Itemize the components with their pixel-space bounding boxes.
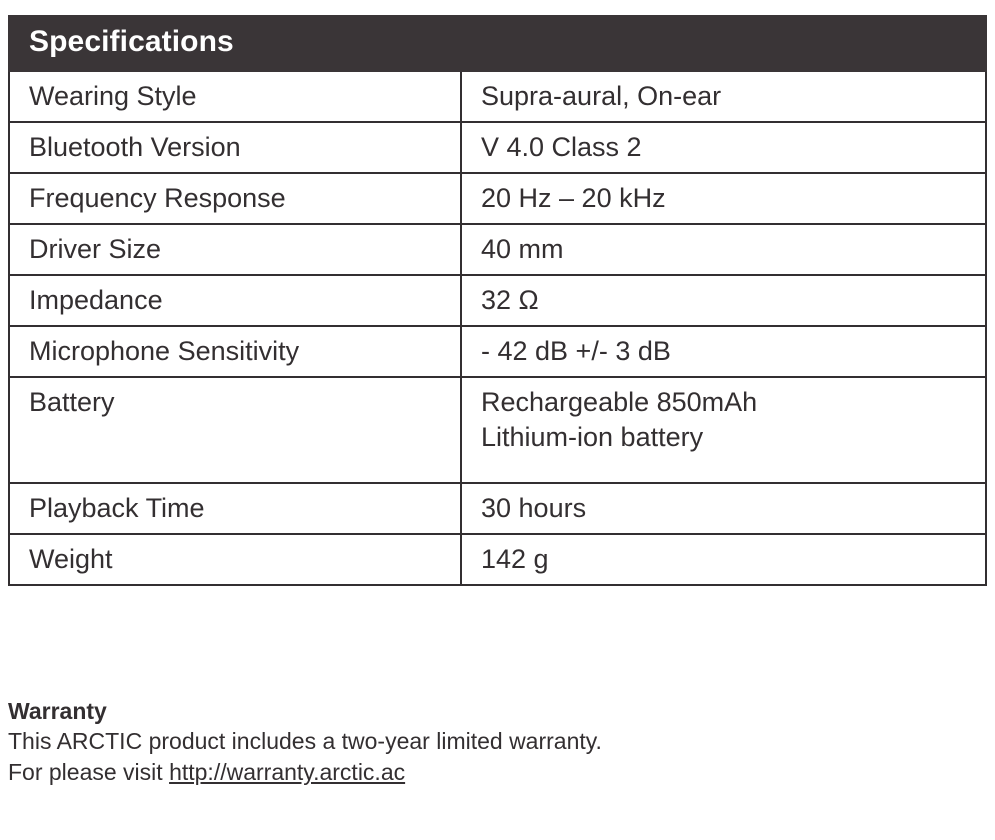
spec-label: Playback Time <box>10 484 460 533</box>
spec-value-cell: Supra-aural, On-ear <box>461 71 986 122</box>
table-row: Impedance32 Ω <box>9 275 986 326</box>
table-row: Weight142 g <box>9 534 986 585</box>
spec-label: Microphone Sensitivity <box>10 327 460 376</box>
specifications-table: Specifications Wearing StyleSupra-aural,… <box>8 15 987 586</box>
spec-value-cell: 142 g <box>461 534 986 585</box>
spec-value: 20 Hz – 20 kHz <box>462 174 985 223</box>
spec-label-cell: Battery <box>9 377 461 483</box>
table-header: Specifications <box>9 16 986 71</box>
table-row: Microphone Sensitivity- 42 dB +/- 3 dB <box>9 326 986 377</box>
spec-value: 30 hours <box>462 484 985 533</box>
spec-value: 40 mm <box>462 225 985 274</box>
spec-label: Impedance <box>10 276 460 325</box>
spec-value-cell: Rechargeable 850mAh Lithium-ion battery <box>461 377 986 483</box>
spec-value-cell: V 4.0 Class 2 <box>461 122 986 173</box>
table-row: Driver Size40 mm <box>9 224 986 275</box>
spec-label-cell: Driver Size <box>9 224 461 275</box>
page-title: Specifications <box>29 25 234 58</box>
spec-label-cell: Weight <box>9 534 461 585</box>
table-row: Frequency Response20 Hz – 20 kHz <box>9 173 986 224</box>
spec-label: Battery <box>10 378 460 482</box>
spec-value-cell: 32 Ω <box>461 275 986 326</box>
spec-label-cell: Wearing Style <box>9 71 461 122</box>
warranty-heading: Warranty <box>8 697 978 726</box>
spec-value-cell: - 42 dB +/- 3 dB <box>461 326 986 377</box>
table-header-row: Specifications <box>9 16 986 71</box>
spec-value: V 4.0 Class 2 <box>462 123 985 172</box>
spec-label-cell: Microphone Sensitivity <box>9 326 461 377</box>
spec-label: Bluetooth Version <box>10 123 460 172</box>
spec-value: 32 Ω <box>462 276 985 325</box>
table-row: Wearing StyleSupra-aural, On-ear <box>9 71 986 122</box>
spec-value-cell: 40 mm <box>461 224 986 275</box>
spec-value: Rechargeable 850mAh Lithium-ion battery <box>462 378 985 482</box>
warranty-text-line-2: For please visit http://warranty.arctic.… <box>8 757 978 788</box>
specifications-page: Specifications Wearing StyleSupra-aural,… <box>0 0 995 840</box>
spec-label-cell: Bluetooth Version <box>9 122 461 173</box>
spec-label-cell: Impedance <box>9 275 461 326</box>
warranty-text-line-1: This ARCTIC product includes a two-year … <box>8 726 978 757</box>
spec-label: Driver Size <box>10 225 460 274</box>
table-row: Bluetooth VersionV 4.0 Class 2 <box>9 122 986 173</box>
table-row: Playback Time30 hours <box>9 483 986 534</box>
spec-value: Supra-aural, On-ear <box>462 72 985 121</box>
spec-value-cell: 20 Hz – 20 kHz <box>461 173 986 224</box>
spec-label: Weight <box>10 535 460 584</box>
spec-value-cell: 30 hours <box>461 483 986 534</box>
spec-label-cell: Playback Time <box>9 483 461 534</box>
spec-label: Wearing Style <box>10 72 460 121</box>
spec-label: Frequency Response <box>10 174 460 223</box>
spec-value: - 42 dB +/- 3 dB <box>462 327 985 376</box>
warranty-section: Warranty This ARCTIC product includes a … <box>8 697 978 788</box>
table-row: BatteryRechargeable 850mAh Lithium-ion b… <box>9 377 986 483</box>
warranty-url-link[interactable]: http://warranty.arctic.ac <box>169 759 405 785</box>
table-body: Wearing StyleSupra-aural, On-earBluetoot… <box>9 71 986 586</box>
warranty-visit-prefix: For please visit <box>8 759 169 785</box>
specifications-header-cell: Specifications <box>9 16 986 71</box>
specifications-table-container: Specifications Wearing StyleSupra-aural,… <box>8 15 985 586</box>
spec-value: 142 g <box>462 535 985 584</box>
spec-label-cell: Frequency Response <box>9 173 461 224</box>
